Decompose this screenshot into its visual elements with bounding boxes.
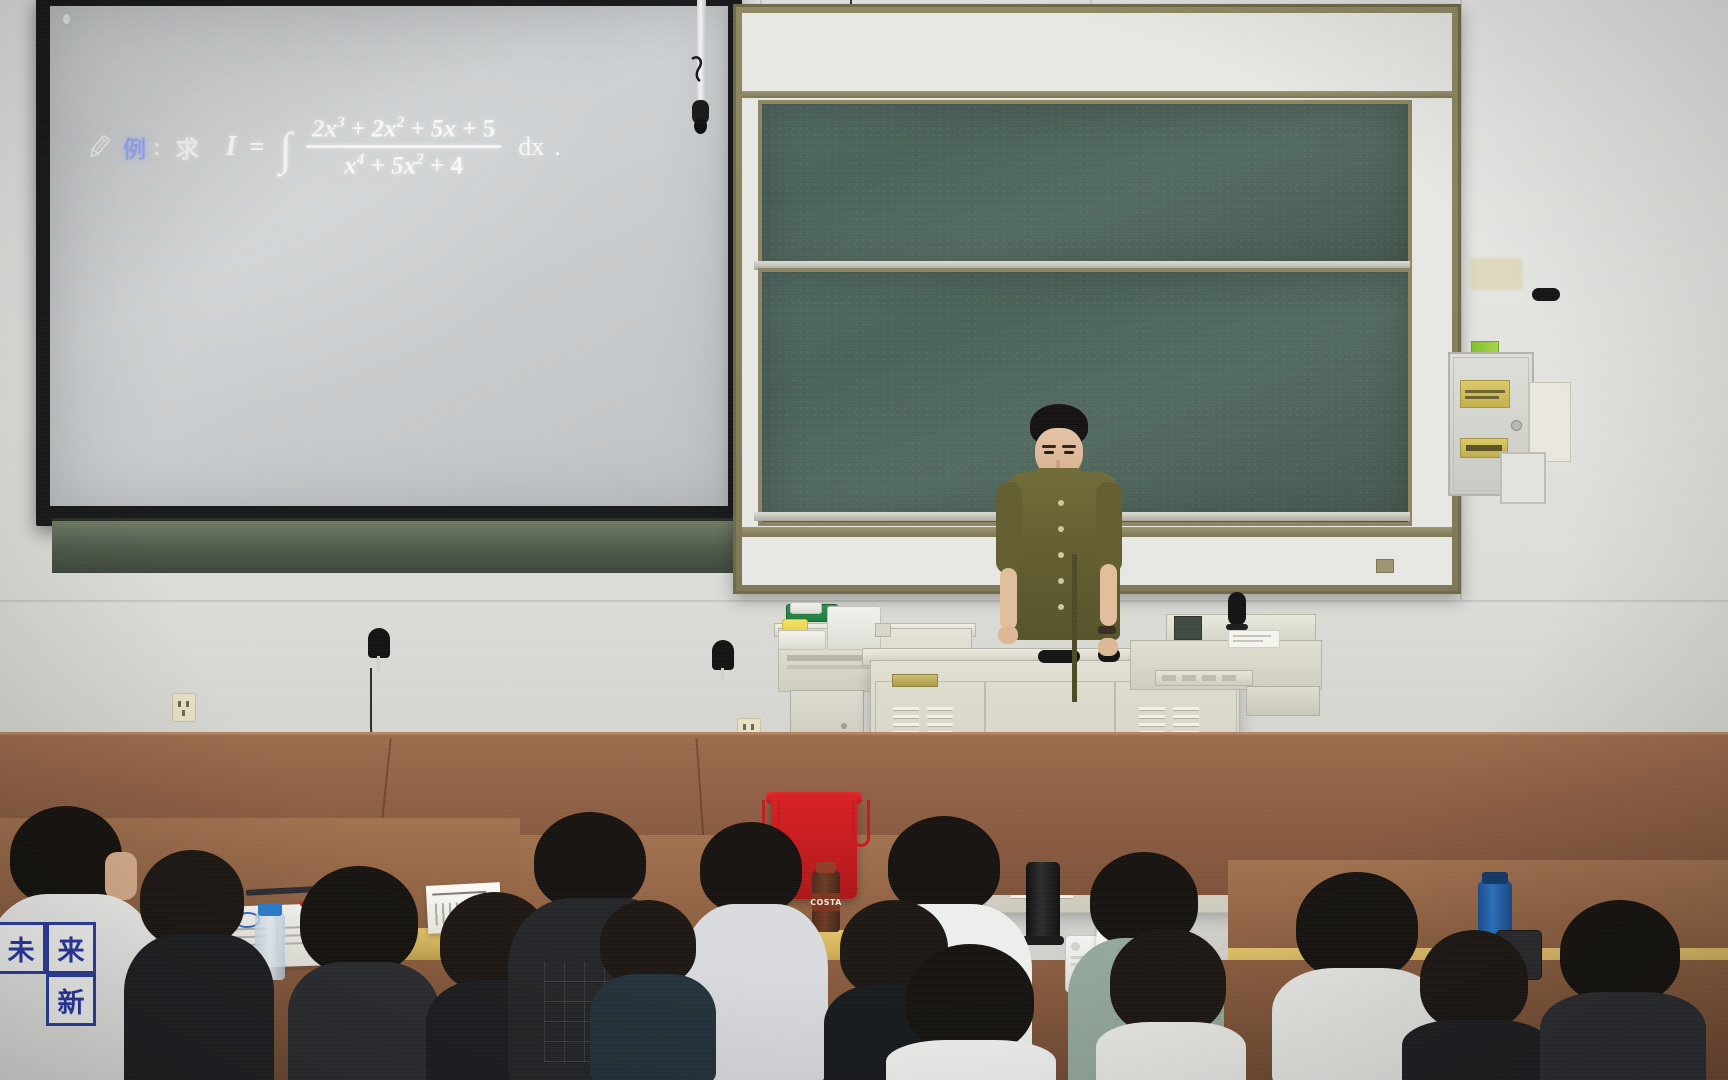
coffee-bottle-label: COSTA (812, 893, 840, 911)
formula-fraction: 2x3 + 2x2 + 5x + 5 x4 + 5x2 + 4 (306, 114, 501, 180)
wall-stain (1470, 258, 1522, 290)
wall-outlet-left[interactable] (172, 693, 196, 722)
console-document (1228, 630, 1280, 648)
slide-verb-cn: 求 (176, 130, 199, 164)
wall-seam (0, 600, 1728, 602)
instructor-arm-left (996, 482, 1022, 574)
tee-char-1: 未 (0, 922, 46, 974)
chalk-box (790, 602, 822, 614)
formula-denominator: x4 + 5x2 + 4 (338, 148, 469, 180)
console-lower-unit (1246, 686, 1320, 716)
wristwatch (1098, 626, 1116, 634)
console-microphone[interactable] (1228, 592, 1246, 626)
console-device (1174, 616, 1202, 640)
lecture-hall-scene: 例 : 求 I = ∫ 2x3 + 2x2 + 5x + 5 (0, 0, 1728, 1080)
formula-period: . (554, 132, 561, 162)
screen-corner-dot (63, 14, 70, 24)
wall-posted-note (1529, 382, 1571, 462)
formula-lhs: I (226, 131, 237, 163)
meter-box (1500, 452, 1546, 504)
formula-numerator: 2x3 + 2x2 + 5x + 5 (306, 114, 501, 145)
chalk-tray-white-right (827, 606, 881, 650)
board-latch[interactable] (1376, 559, 1394, 573)
wall-speaker-center (712, 640, 734, 670)
black-tumbler (1026, 862, 1060, 940)
chalk-tray-white-left (778, 630, 826, 650)
instructor (990, 404, 1130, 664)
podium-nameplate (892, 674, 938, 687)
wall-speaker-left (368, 628, 390, 658)
console-microphone-base (1226, 624, 1248, 630)
formula-equals: = (250, 132, 265, 162)
screen-housing: 例 : 求 I = ∫ 2x3 + 2x2 + 5x + 5 (36, 0, 742, 526)
trash-bin-handle-right (852, 800, 870, 847)
black-tumbler-base (1022, 936, 1064, 945)
coffee-bottle-cap (816, 862, 836, 873)
slide-label-cn: 例 (123, 130, 146, 164)
upper-board-panel (758, 100, 1412, 276)
instructor-forearm-right (1100, 564, 1117, 626)
counter-fitting (875, 623, 891, 637)
wall-speaker-right (1532, 288, 1560, 301)
slide-colon: : (153, 134, 161, 161)
instructor-forearm-left (1000, 568, 1017, 630)
board-rail-top (742, 91, 1452, 98)
screen-surface (50, 6, 728, 506)
microphone-hook-icon (688, 55, 710, 83)
integral-icon: ∫ (279, 135, 292, 163)
panel-lock-knob[interactable] (1511, 420, 1522, 431)
screen-lower-chalkboard (52, 518, 752, 573)
blue-bottle-cap (1482, 872, 1508, 884)
hanging-microphone-body (694, 118, 707, 134)
instructor-hand-left (998, 626, 1018, 644)
formula-differential: dx (518, 132, 544, 162)
tee-char-2: 来 (46, 922, 96, 974)
console-keypad[interactable] (1155, 670, 1253, 686)
water-bottle-cap (258, 903, 282, 916)
panel-label-upper (1460, 380, 1510, 408)
projection-screen[interactable]: 例 : 求 I = ∫ 2x3 + 2x2 + 5x + 5 (36, 0, 742, 572)
instructor-hand-right (1098, 638, 1118, 656)
slide-equation-line: 例 : 求 I = ∫ 2x3 + 2x2 + 5x + 5 (84, 114, 561, 180)
pencil-icon (84, 132, 114, 162)
tee-char-3: 新 (46, 974, 96, 1026)
instructor-arm-right (1096, 482, 1122, 574)
